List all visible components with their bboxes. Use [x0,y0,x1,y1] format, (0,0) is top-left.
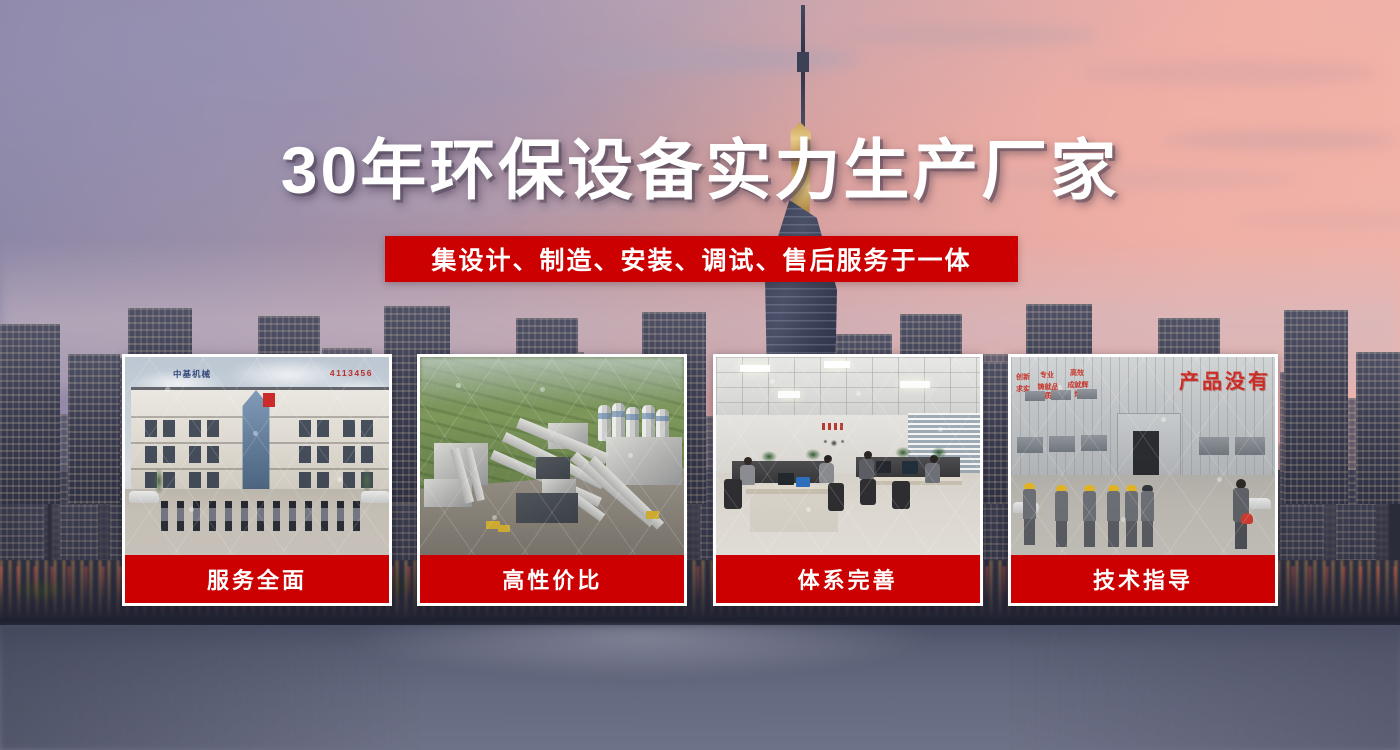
card-caption-service: 服务全面 [125,555,389,603]
subtitle-text: 集设计、制造、安装、调试、售后服务于一体 [431,241,971,277]
feature-card-row: 中基机械 4113456 [122,354,1278,606]
feature-card-guidance[interactable]: 产品没有 创新 专业 高效 求实 铸就品质 成就辉煌 [1008,354,1278,606]
subtitle-banner: 集设计、制造、安装、调试、售后服务于一体 [385,236,1018,282]
office-building-staff-photo: 中基机械 4113456 [125,357,389,555]
tower-spire [801,5,805,130]
feature-card-system[interactable]: 体系完善 [713,354,983,606]
open-plan-office-photo [716,357,980,555]
banner-headline: 30年环保设备实力生产厂家 [0,133,1400,207]
workers-briefing-factory-photo: 产品没有 创新 专业 高效 求实 铸就品质 成就辉煌 [1011,357,1275,555]
promo-banner: 30年环保设备实力生产厂家 集设计、制造、安装、调试、售后服务于一体 [0,0,1400,750]
card-caption-value: 高性价比 [420,555,684,603]
river-reflection [0,625,1400,750]
feature-card-service[interactable]: 中基机械 4113456 [122,354,392,606]
card-caption-guidance: 技术指导 [1011,555,1275,603]
card-caption-system: 体系完善 [716,555,980,603]
feature-card-value[interactable]: 高性价比 [417,354,687,606]
aerial-industrial-plant-photo [420,357,684,555]
